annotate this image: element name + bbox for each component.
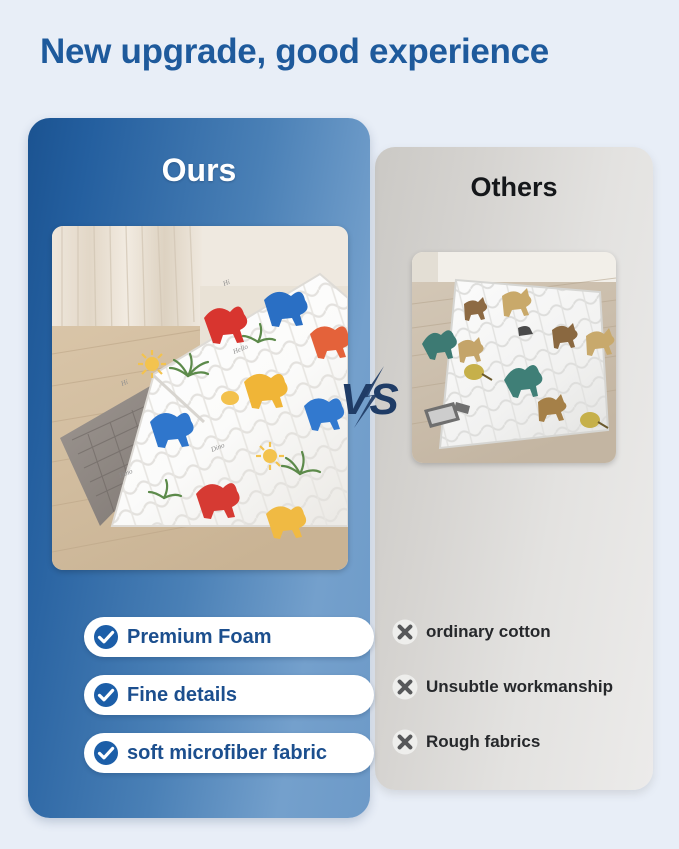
drawback-row-ordinary-cotton: ordinary cotton xyxy=(392,617,650,647)
vs-lightning-icon: VS xyxy=(338,364,408,430)
drawback-row-rough-fabrics: Rough fabrics xyxy=(392,727,650,757)
vs-badge: VS xyxy=(338,364,408,430)
check-circle-icon xyxy=(93,740,119,766)
others-panel: Others xyxy=(375,147,653,790)
others-product-photo xyxy=(412,252,616,463)
drawback-label: Rough fabrics xyxy=(426,732,540,752)
x-circle-icon xyxy=(392,674,418,700)
plain-quilted-animal-mattress-pad-illustration xyxy=(412,252,616,463)
feature-label: soft microfiber fabric xyxy=(127,742,327,765)
quilted-dinosaur-mattress-pad-illustration: Hi Hello Dino Dino Hi xyxy=(52,226,348,570)
drawback-label: ordinary cotton xyxy=(426,622,551,642)
drawback-row-unsubtle-workmanship: Unsubtle workmanship xyxy=(392,672,650,702)
ours-heading: Ours xyxy=(28,152,370,189)
check-circle-icon xyxy=(93,682,119,708)
feature-pill-soft-microfiber-fabric[interactable]: soft microfiber fabric xyxy=(84,733,374,773)
feature-pill-fine-details[interactable]: Fine details xyxy=(84,675,374,715)
ours-product-photo: Hi Hello Dino Dino Hi xyxy=(52,226,348,570)
drawback-label: Unsubtle workmanship xyxy=(426,677,613,697)
feature-label: Premium Foam xyxy=(127,626,271,649)
check-circle-icon xyxy=(93,624,119,650)
x-circle-icon xyxy=(392,619,418,645)
page-title: New upgrade, good experience xyxy=(40,30,650,74)
x-circle-icon xyxy=(392,729,418,755)
vs-text: VS xyxy=(340,375,399,424)
others-heading: Others xyxy=(375,172,653,203)
ours-panel: Ours xyxy=(28,118,370,818)
feature-label: Fine details xyxy=(127,684,237,707)
feature-pill-premium-foam[interactable]: Premium Foam xyxy=(84,617,374,657)
